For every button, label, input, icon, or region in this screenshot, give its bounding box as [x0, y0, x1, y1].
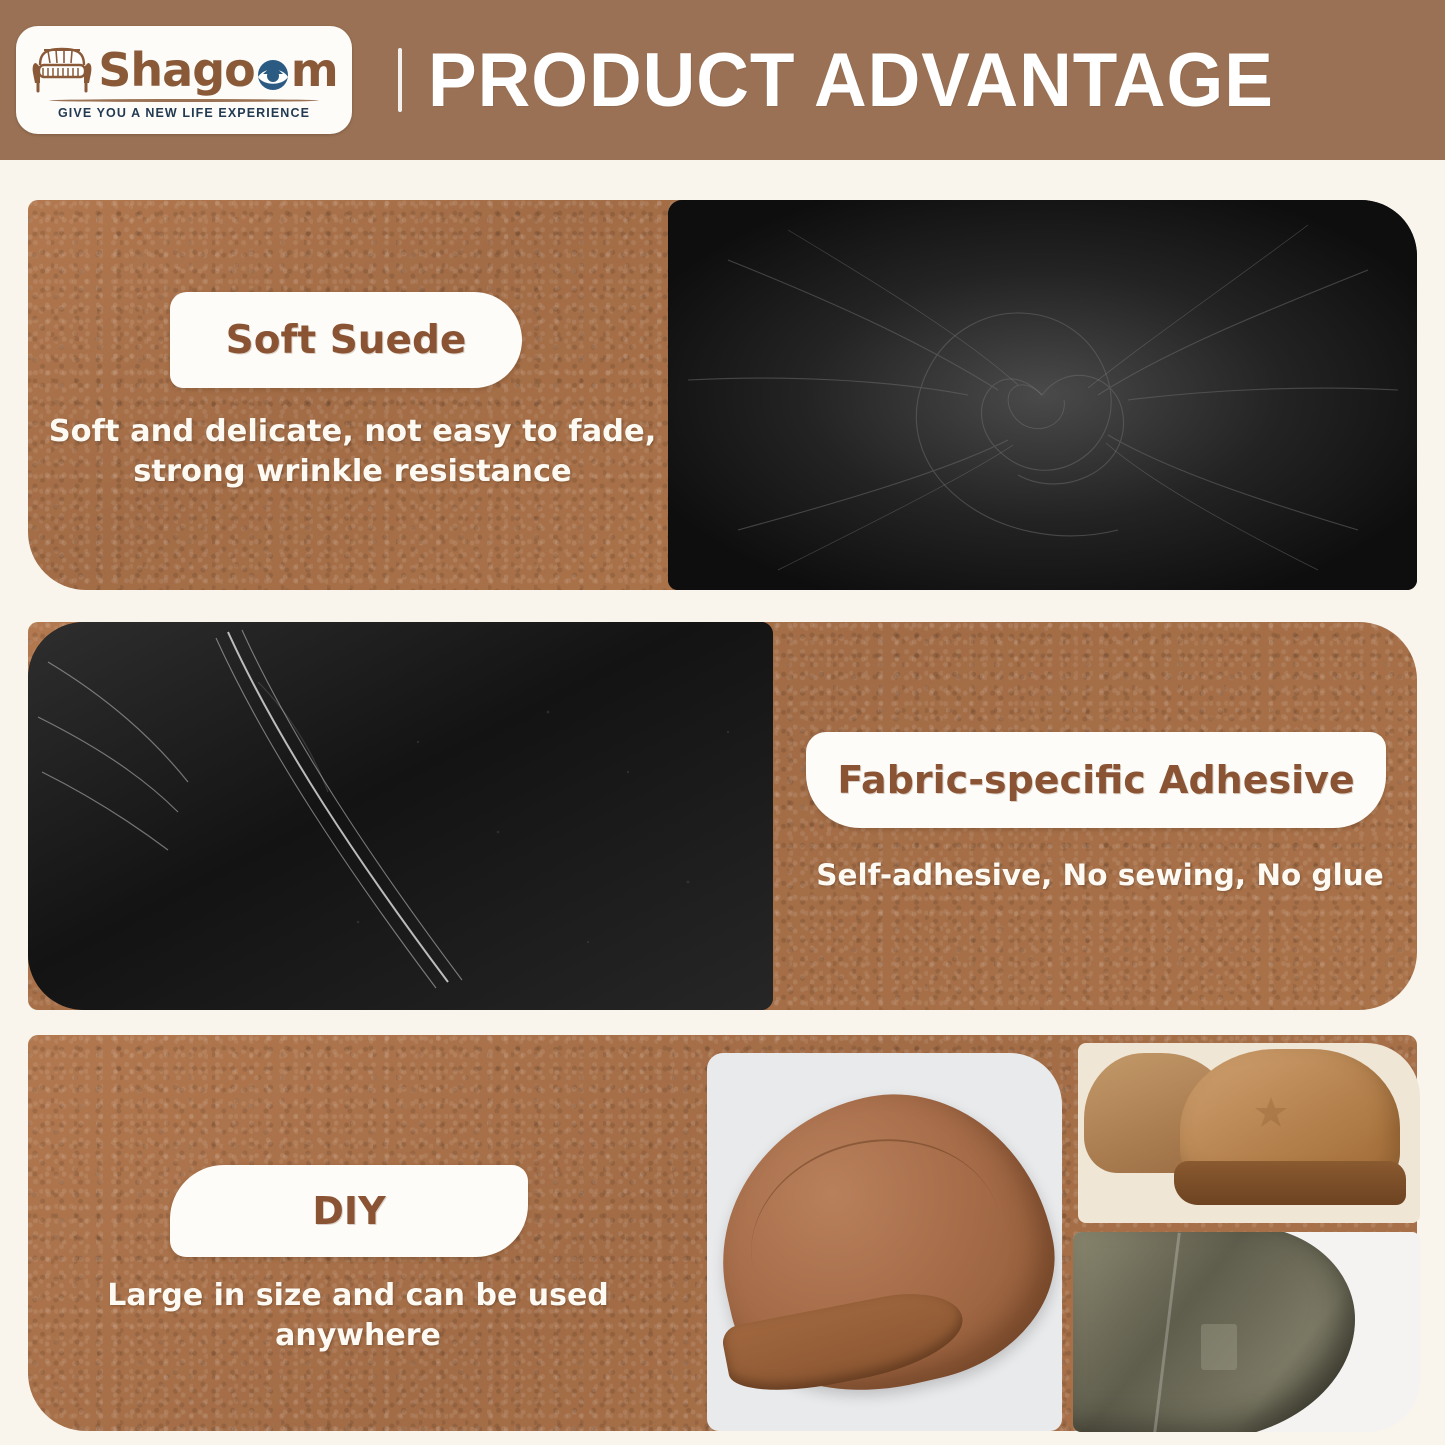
logo-brand-last: m — [291, 47, 338, 93]
logo-row: Shago m — [30, 43, 337, 97]
section-label-adhesive: Fabric-specific Adhesive — [837, 758, 1354, 802]
label-pill-diy: DIY — [170, 1165, 528, 1257]
logo-underline — [49, 99, 319, 102]
logo-wordmark: Shago m — [98, 47, 337, 93]
fabric-swirl-texture — [668, 200, 1417, 590]
label-pill-adhesive: Fabric-specific Adhesive — [806, 732, 1386, 828]
product-photo-flat-cap — [707, 1053, 1062, 1431]
section-description-diy: Large in size and can be used anywhere — [34, 1276, 682, 1355]
page-title: PRODUCT ADVANTAGE — [428, 37, 1274, 124]
section-soft-suede-card — [28, 200, 683, 590]
garment-patch — [1201, 1324, 1237, 1370]
adhesive-fabric-image — [28, 622, 773, 1010]
logo-tagline: GIVE YOU A NEW LIFE EXPERIENCE — [58, 106, 310, 120]
boot-sole — [1174, 1161, 1406, 1205]
section-description-soft-suede: Soft and delicate, not easy to fade, str… — [40, 412, 665, 493]
product-photo-garment — [1073, 1232, 1420, 1432]
section-label-soft-suede: Soft Suede — [226, 318, 467, 363]
star-emboss-icon — [1254, 1095, 1288, 1129]
section-label-diy: DIY — [312, 1189, 385, 1233]
label-pill-soft-suede: Soft Suede — [170, 292, 522, 388]
soft-suede-fabric-image — [668, 200, 1417, 590]
logo-brand-first: Shag — [98, 47, 224, 93]
section-description-adhesive: Self-adhesive, No sewing, No glue — [800, 856, 1400, 895]
header-band: Shago m GIVE YOU A NEW LIFE EXPERIENCE P… — [0, 0, 1445, 160]
armchair-icon — [30, 43, 94, 97]
eye-diamond-icon — [256, 53, 290, 87]
product-advantage-infographic: Shago m GIVE YOU A NEW LIFE EXPERIENCE P… — [0, 0, 1445, 1445]
product-photo-boots — [1078, 1043, 1420, 1223]
logo-brand-o: o — [224, 47, 255, 93]
brand-logo: Shago m GIVE YOU A NEW LIFE EXPERIENCE — [16, 26, 352, 134]
header-divider — [398, 48, 402, 112]
adhesive-texture — [28, 622, 773, 1010]
